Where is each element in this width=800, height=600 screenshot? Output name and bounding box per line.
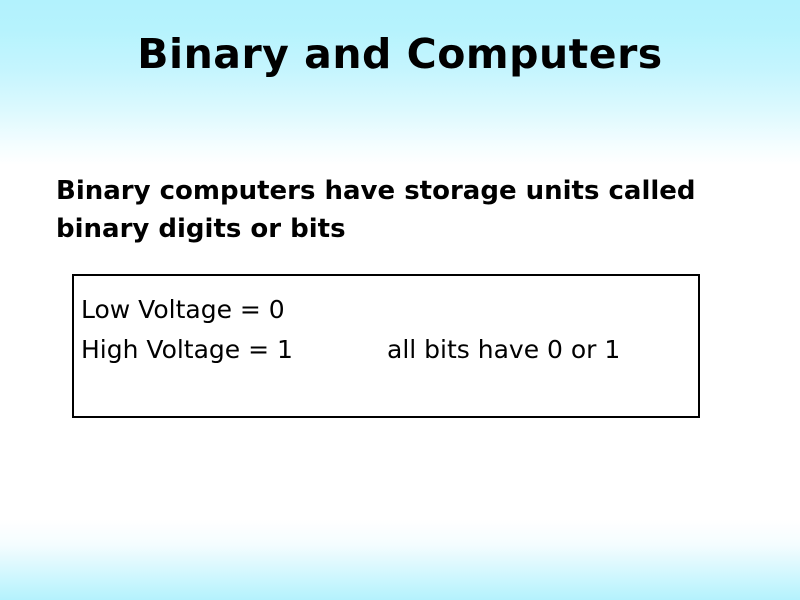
voltage-content-box: Low Voltage = 0 High Voltage = 1 all bit… bbox=[72, 274, 700, 418]
slide-canvas: Binary and Computers Binary computers ha… bbox=[0, 0, 800, 600]
voltage-row-high: High Voltage = 1 all bits have 0 or 1 bbox=[81, 335, 293, 365]
voltage-row-low-label: Low Voltage = 0 bbox=[81, 295, 285, 325]
page-title: Binary and Computers bbox=[40, 30, 760, 78]
voltage-row-low: Low Voltage = 0 bbox=[81, 295, 285, 325]
body-paragraph: Binary computers have storage units call… bbox=[56, 172, 746, 248]
title-block: Binary and Computers bbox=[40, 30, 760, 78]
voltage-row-high-note: all bits have 0 or 1 bbox=[387, 335, 620, 365]
voltage-row-high-label: High Voltage = 1 bbox=[81, 335, 293, 365]
slide-footer: 09/11/06 Hofstra University – Overview o… bbox=[0, 552, 800, 600]
